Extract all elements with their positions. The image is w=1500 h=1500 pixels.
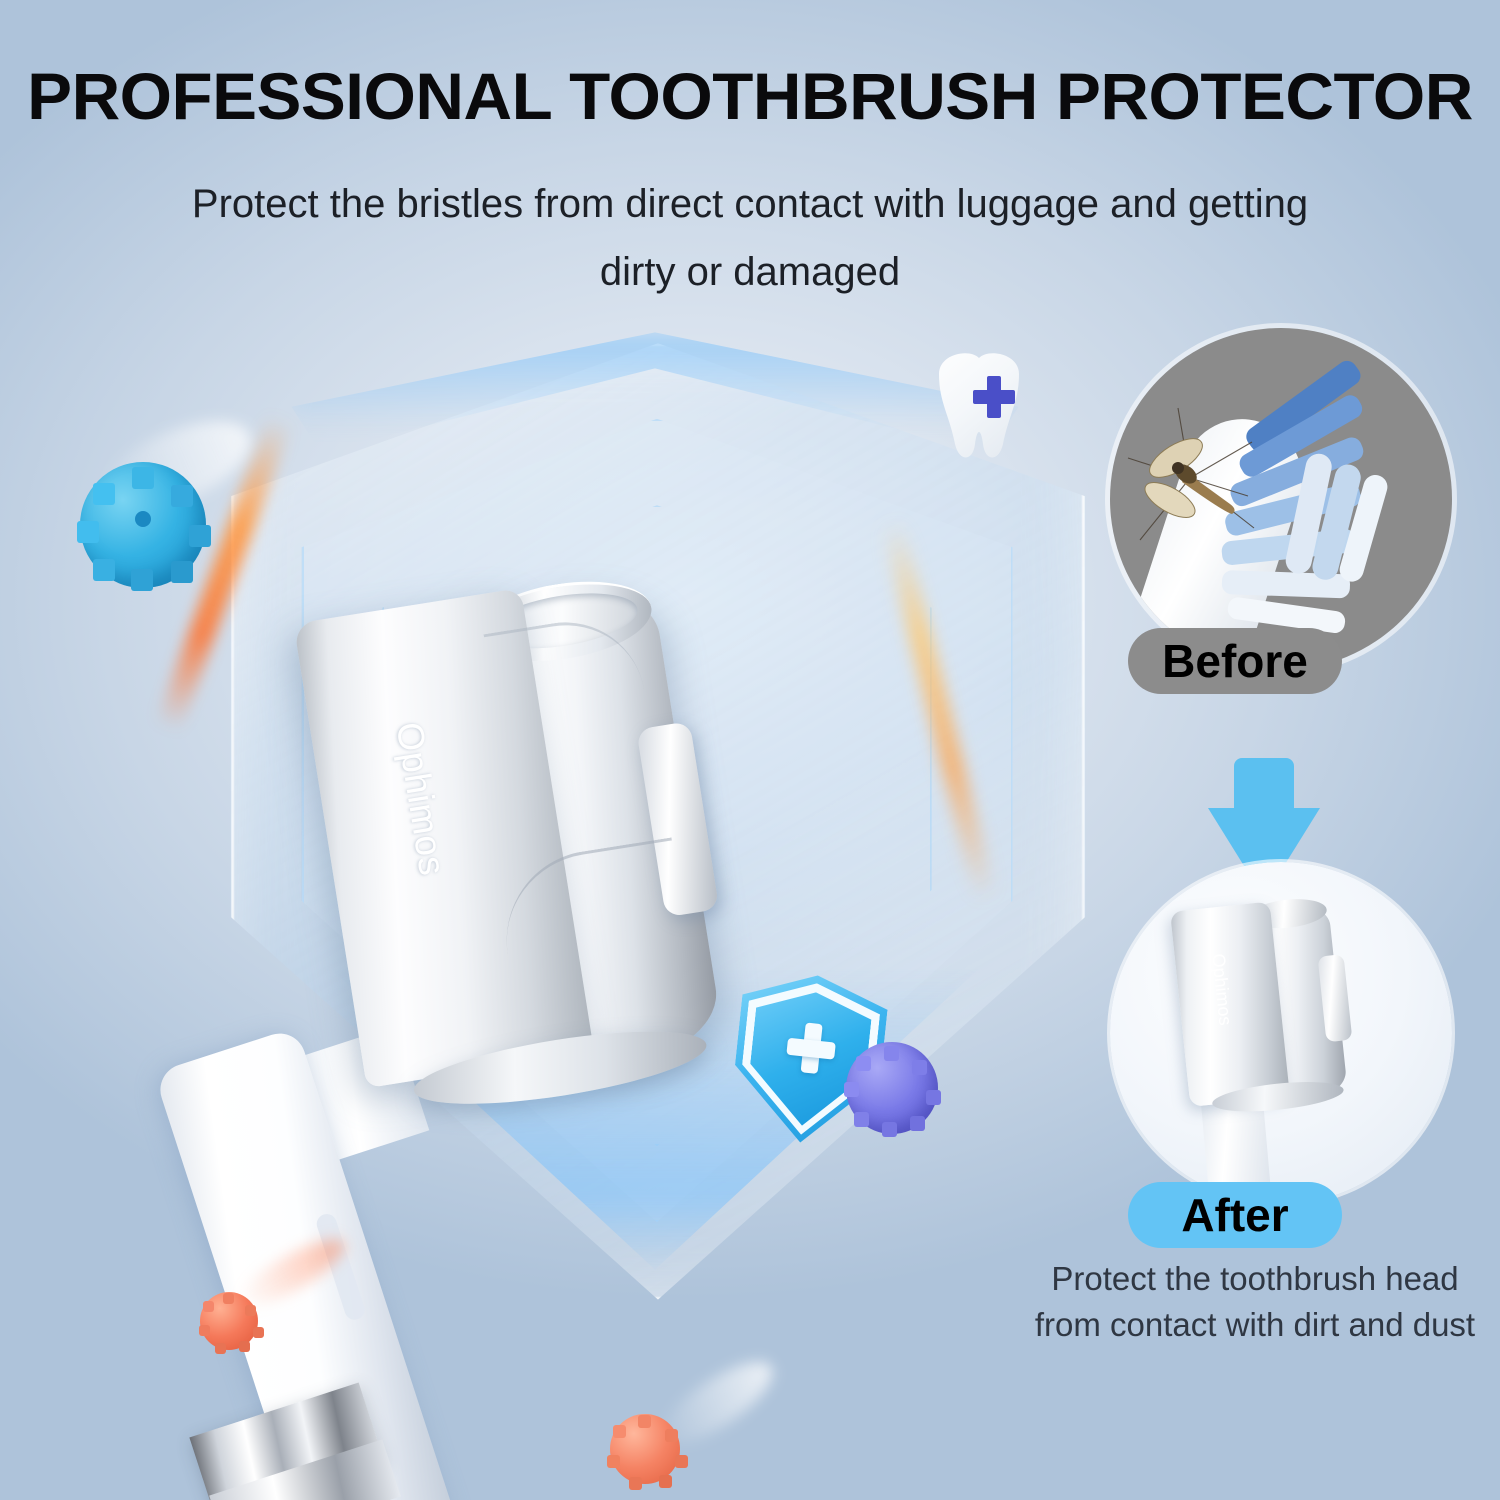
after-label-pill: After xyxy=(1128,1182,1342,1248)
subtitle-line-1: Protect the bristles from direct contact… xyxy=(135,170,1365,238)
after-caption-line-2: from contact with dirt and dust xyxy=(1020,1302,1490,1348)
badge-cross-icon xyxy=(785,1021,838,1076)
germ-orange-1-spikes xyxy=(200,1292,258,1350)
tooth-icon xyxy=(925,348,1033,466)
page-subtitle: Protect the bristles from direct contact… xyxy=(135,170,1365,306)
after-caption: Protect the toothbrush head from contact… xyxy=(1020,1256,1490,1348)
before-image-circle xyxy=(1110,328,1452,670)
after-caption-line-1: Protect the toothbrush head xyxy=(1020,1256,1490,1302)
product-protector-cap: Ophimos xyxy=(293,558,786,1118)
product-infographic: PROFESSIONAL TOOTHBRUSH PROTECTOR Protec… xyxy=(0,0,1500,1500)
germ-purple-spikes xyxy=(846,1042,938,1134)
tooth-cross-icon xyxy=(973,376,1015,418)
page-title: PROFESSIONAL TOOTHBRUSH PROTECTOR xyxy=(0,58,1500,134)
subtitle-line-2: dirty or damaged xyxy=(135,238,1365,306)
germ-orange-icon-1 xyxy=(200,1292,258,1350)
germ-blue-spikes xyxy=(80,462,206,588)
after-protector-cap: Ophimos xyxy=(1170,893,1370,1111)
germ-purple-icon xyxy=(846,1042,938,1134)
germ-orange-2-spikes xyxy=(610,1414,680,1484)
mosquito-icon xyxy=(1120,400,1260,550)
germ-blue-icon xyxy=(80,462,206,588)
germ-orange-icon-2 xyxy=(610,1414,680,1484)
before-label-pill: Before xyxy=(1128,628,1342,694)
after-image-circle: Ophimos xyxy=(1110,862,1452,1204)
